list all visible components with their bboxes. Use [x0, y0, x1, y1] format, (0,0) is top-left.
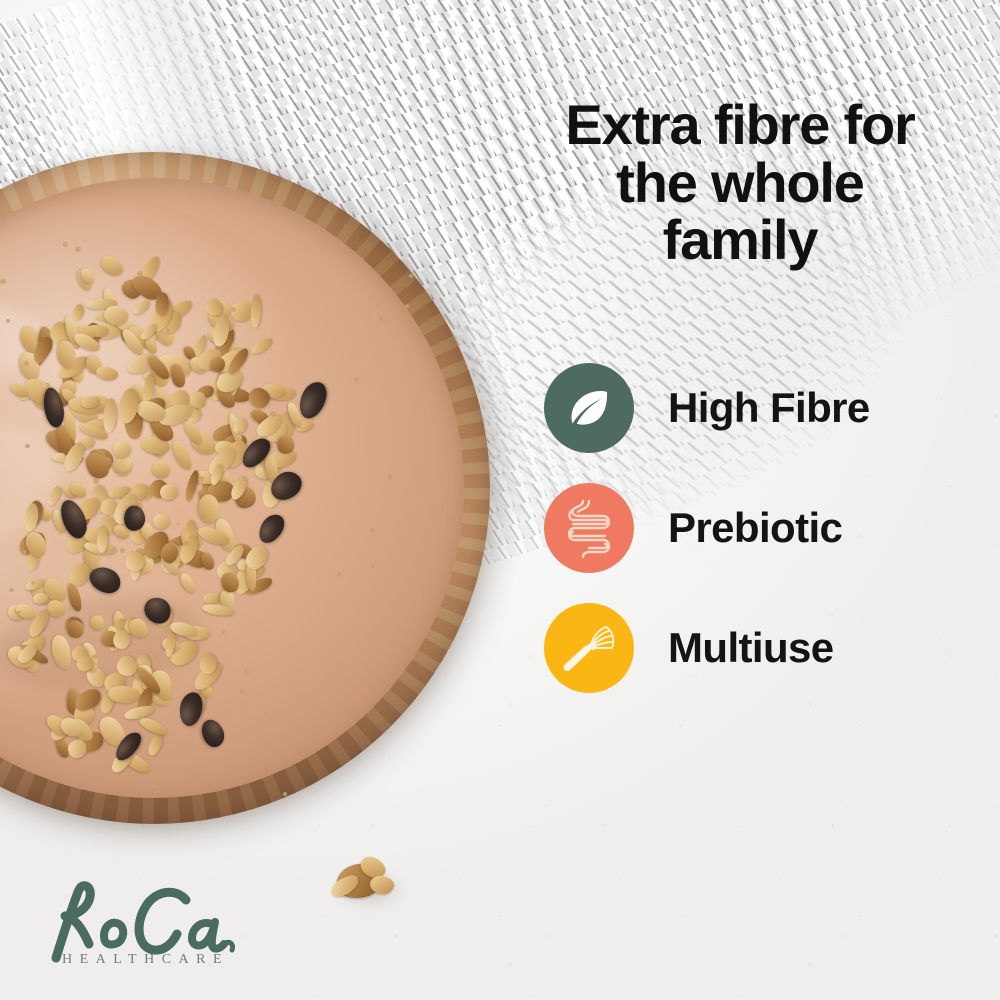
headline-line-1: Extra fibre for — [512, 96, 968, 154]
feature-label: Multiuse — [668, 624, 834, 672]
granola-piece — [183, 469, 201, 503]
headline-line-2: the whole — [512, 154, 968, 212]
granola-crumb-speck — [166, 628, 171, 633]
granola-crumb-speck — [264, 713, 268, 717]
granola-crumb-speck — [152, 784, 156, 788]
granola-crumb-speck — [9, 588, 14, 593]
granola-crumb-speck — [166, 328, 170, 332]
granola-piece — [112, 440, 132, 459]
granola-piece — [146, 732, 165, 757]
granola-crumb-speck — [409, 274, 413, 278]
smoothie-surface — [0, 178, 464, 798]
granola-crumb-speck — [63, 242, 68, 247]
granola-crumb-speck — [350, 720, 352, 722]
leaf-icon — [560, 379, 618, 437]
granola-crumb-speck — [369, 317, 372, 320]
raisin-piece — [198, 716, 229, 751]
granola-crumb-speck — [6, 319, 10, 323]
granola-crumb-speck — [92, 654, 98, 660]
granola-piece — [249, 335, 275, 356]
granola-crumb-speck — [25, 444, 29, 448]
raisin-piece — [178, 691, 205, 728]
granola-piece — [67, 619, 85, 638]
granola-crumb-speck — [120, 548, 125, 553]
granola-crumb-speck — [75, 246, 81, 252]
brand-tagline: HEALTHCARE — [62, 952, 229, 968]
prebiotic-badge — [544, 483, 634, 573]
granola-piece — [113, 629, 131, 649]
granola-crumb-speck — [244, 669, 249, 674]
granola-crumb-speck — [24, 361, 29, 366]
granola-crumb-speck — [23, 550, 27, 554]
raisin-piece — [254, 510, 289, 548]
granola-crumb-speck — [221, 630, 225, 634]
granola-piece — [153, 514, 170, 529]
granola-crumb-speck — [17, 611, 20, 614]
intestine-icon — [559, 497, 619, 559]
granola-crumb-speck — [388, 474, 393, 479]
granola-crumb-speck — [405, 304, 409, 308]
granola-crumb-speck — [93, 478, 98, 483]
high-fibre-badge — [544, 363, 634, 453]
granola-crumb-speck — [376, 305, 379, 308]
multiuse-badge — [544, 603, 634, 693]
feature-item-prebiotic: Prebiotic — [544, 468, 964, 588]
feature-label: Prebiotic — [668, 504, 842, 552]
whisk-icon — [559, 618, 619, 678]
granola-crumb-speck — [239, 689, 244, 694]
granola-crumb-speck — [198, 476, 204, 482]
feature-list: High Fibre — [544, 348, 964, 708]
feature-item-high-fibre: High Fibre — [544, 348, 964, 468]
granola-crumb-speck — [0, 279, 6, 285]
granola-crumb-speck — [184, 541, 190, 547]
granola-crumb-speck — [68, 606, 73, 611]
granola-piece — [88, 613, 108, 633]
headline: Extra fibre for the whole family — [512, 96, 968, 269]
promo-graphic: Extra fibre for the whole family High Fi… — [0, 0, 1000, 1000]
granola-piece — [149, 459, 173, 482]
granola-crumb — [326, 852, 404, 914]
granola-crumb-speck — [354, 377, 359, 382]
granola-piece — [97, 253, 126, 280]
granola-crumb-speck — [370, 528, 375, 533]
granola-piece — [178, 571, 199, 596]
granola-crumb-speck — [337, 572, 342, 577]
granola-crumb-speck — [372, 565, 375, 568]
granola-crumb-speck — [137, 271, 142, 276]
feature-label: High Fibre — [668, 384, 870, 432]
granola-topping — [0, 268, 414, 788]
granola-crumb-speck — [379, 317, 384, 322]
granola-piece — [48, 633, 73, 671]
granola-piece — [22, 529, 50, 560]
granola-crumb-speck — [270, 411, 276, 417]
granola-piece — [95, 365, 120, 383]
granola-crumb-speck — [231, 307, 236, 312]
brand-logo — [34, 874, 284, 986]
smoothie-bowl-photo — [0, 152, 490, 824]
granola-crumb-speck — [31, 581, 35, 585]
feature-item-multiuse: Multiuse — [544, 588, 964, 708]
granola-piece — [131, 299, 152, 317]
granola-crumb-speck — [177, 523, 180, 526]
granola-crumb-speck — [288, 754, 291, 757]
headline-line-3: family — [512, 211, 968, 269]
granola-piece — [250, 294, 261, 328]
